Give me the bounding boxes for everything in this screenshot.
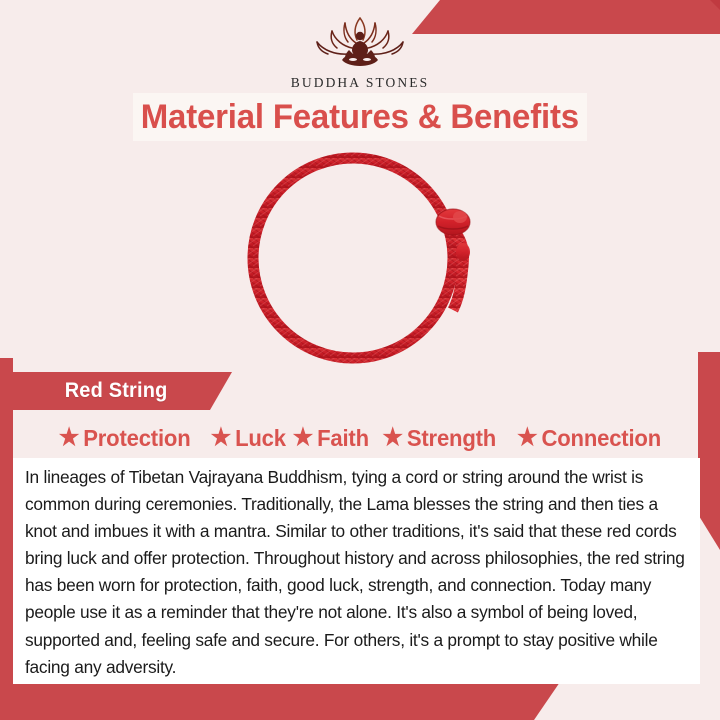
star-icon: ★ [58, 426, 79, 450]
star-icon: ★ [211, 426, 232, 450]
benefit-item-protection: ★ Protection [58, 425, 190, 452]
red-string-bracelet-image [225, 148, 495, 368]
star-icon: ★ [517, 426, 538, 450]
product-name-banner: Red String [0, 372, 232, 410]
benefit-item-connection: ★ Connection [517, 425, 661, 452]
description-text: In lineages of Tibetan Vajrayana Buddhis… [25, 464, 685, 681]
benefit-label: Faith [317, 425, 369, 452]
product-image-area [0, 148, 720, 368]
benefit-label: Luck [235, 425, 286, 452]
left-red-stripe [0, 358, 13, 720]
page-title: Material Features & Benefits [141, 98, 579, 137]
benefit-item-strength: ★ Strength [382, 425, 496, 452]
lotus-meditation-icon [307, 12, 413, 74]
page-title-band: Material Features & Benefits [133, 93, 587, 141]
benefit-label: Protection [83, 425, 190, 452]
star-icon: ★ [293, 426, 314, 450]
benefit-label: Strength [407, 425, 496, 452]
benefit-item-faith: ★ Faith [293, 425, 369, 452]
infographic-page: BUDDHA STONES Material Features & Benefi… [0, 0, 720, 720]
star-icon: ★ [382, 426, 403, 450]
bottom-red-band [0, 682, 560, 720]
description-panel: In lineages of Tibetan Vajrayana Buddhis… [13, 458, 700, 684]
product-name-label: Red String [65, 379, 168, 403]
benefit-item-luck: ★ Luck [211, 425, 286, 452]
benefit-label: Connection [542, 425, 662, 452]
brand-logo: BUDDHA STONES [0, 12, 720, 91]
brand-name: BUDDHA STONES [291, 75, 429, 91]
benefits-row: ★ Protection ★ Luck ★ Faith ★ Strength ★… [0, 418, 720, 458]
